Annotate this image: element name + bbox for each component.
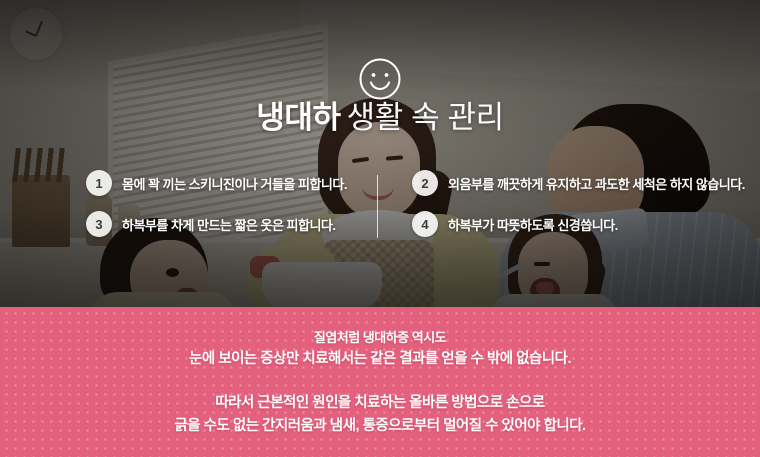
tips-list: 1 몸에 꽉 끼는 스키니진이나 거들을 피합니다. 2 외음부를 깨끗하게 유… — [0, 166, 760, 246]
list-item: 3 하복부를 차게 만드는 짧은 옷은 피합니다. — [86, 211, 336, 237]
smiley-face-icon — [358, 57, 402, 101]
tip-text: 하복부를 차게 만드는 짧은 옷은 피합니다. — [122, 215, 336, 234]
tip-number-badge: 3 — [86, 211, 112, 237]
tip-text: 하복부가 따뜻하도록 신경씁니다. — [448, 215, 618, 234]
pink-message-section: 질염처럼 냉대하증 역시도 눈에 보이는 증상만 치료해서는 같은 결과를 얻을… — [0, 307, 760, 457]
tip-text: 몸에 꽉 끼는 스키니진이나 거들을 피합니다. — [122, 174, 347, 193]
pink-line: 눈에 보이는 증상만 치료해서는 같은 결과를 얻을 수 밖에 없습니다. — [189, 348, 571, 371]
list-item: 4 하복부가 따뜻하도록 신경씁니다. — [412, 211, 618, 237]
promo-banner: 냉대하생활 속 관리 1 몸에 꽉 끼는 스키니진이나 거들을 피합니다. 2 … — [0, 0, 760, 457]
page-title-strong: 냉대하 — [256, 100, 340, 135]
tip-text: 외음부를 깨끗하게 유지하고 과도한 세척은 하지 않습니다. — [448, 174, 745, 193]
page-title: 냉대하생활 속 관리 — [0, 99, 760, 137]
pink-message-content: 질염처럼 냉대하증 역시도 눈에 보이는 증상만 치료해서는 같은 결과를 얻을… — [0, 307, 760, 457]
list-item: 2 외음부를 깨끗하게 유지하고 과도한 세척은 하지 않습니다. — [412, 170, 745, 196]
pink-line: 질염처럼 냉대하증 역시도 — [189, 327, 571, 348]
pink-paragraph-1: 질염처럼 냉대하증 역시도 눈에 보이는 증상만 치료해서는 같은 결과를 얻을… — [189, 327, 571, 371]
pink-line: 긁을 수도 없는 간지러움과 냄새, 통증으로부터 멀어질 수 있어야 합니다. — [174, 415, 585, 438]
tip-number-badge: 1 — [86, 170, 112, 196]
pink-line: 따라서 근본적인 원인을 치료하는 올바른 방법으로 손으로 — [174, 392, 585, 415]
tip-number-badge: 4 — [412, 211, 438, 237]
list-item: 1 몸에 꽉 끼는 스키니진이나 거들을 피합니다. — [86, 170, 347, 196]
page-title-light: 생활 속 관리 — [347, 100, 504, 135]
tip-number-badge: 2 — [412, 170, 438, 196]
pink-paragraph-2: 따라서 근본적인 원인을 치료하는 올바른 방법으로 손으로 긁을 수도 없는 … — [174, 392, 585, 438]
